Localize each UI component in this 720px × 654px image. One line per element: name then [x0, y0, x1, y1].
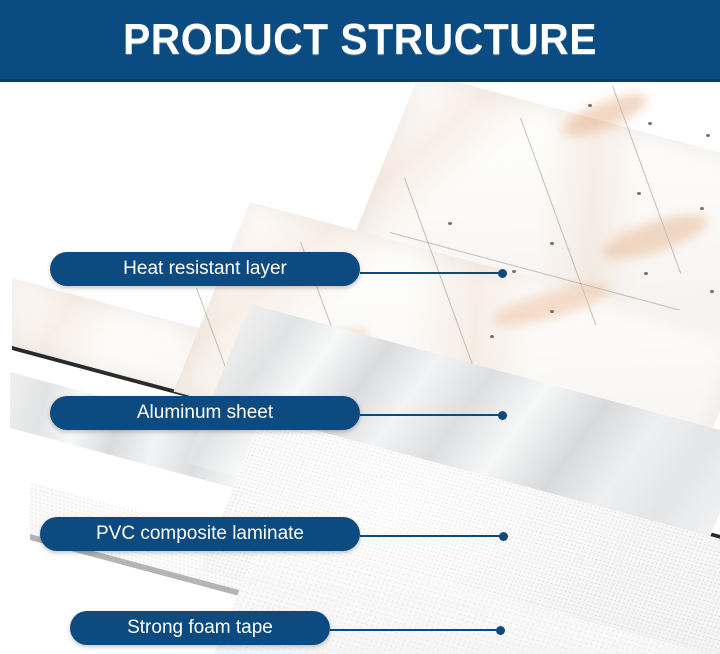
leader-line-heat-resistant-layer [360, 272, 502, 274]
tile-fastener [550, 310, 554, 313]
tile-fastener [644, 272, 648, 275]
tile-fastener [637, 192, 641, 195]
product-structure-infographic: PRODUCT STRUCTURE [0, 0, 720, 654]
tile-fastener [512, 270, 516, 273]
page-title: PRODUCT STRUCTURE [25, 14, 695, 66]
callout-pvc-composite-laminate[interactable]: PVC composite laminate [40, 517, 360, 551]
tile-fastener [448, 222, 452, 225]
tile-fastener [700, 207, 704, 210]
callout-strong-foam-tape[interactable]: Strong foam tape [70, 611, 330, 645]
tile-fastener [710, 290, 714, 293]
tile-fastener [588, 104, 592, 107]
leader-dot-strong-foam-tape [496, 626, 505, 635]
tile-fastener [550, 242, 554, 245]
leader-line-aluminum-sheet [360, 414, 502, 416]
leader-dot-heat-resistant-layer [498, 269, 507, 278]
tile-fastener [706, 134, 710, 137]
leader-dot-pvc-composite-laminate [499, 532, 508, 541]
leader-line-strong-foam-tape [330, 629, 500, 631]
tile-fastener [648, 122, 652, 125]
callout-heat-resistant-layer[interactable]: Heat resistant layer [50, 252, 360, 286]
exploded-layer-illustration [0, 82, 720, 654]
leader-line-pvc-composite-laminate [360, 535, 503, 537]
leader-dot-aluminum-sheet [498, 411, 507, 420]
header-banner: PRODUCT STRUCTURE [0, 0, 720, 82]
callout-aluminum-sheet[interactable]: Aluminum sheet [50, 396, 360, 430]
tile-fastener [490, 335, 494, 338]
